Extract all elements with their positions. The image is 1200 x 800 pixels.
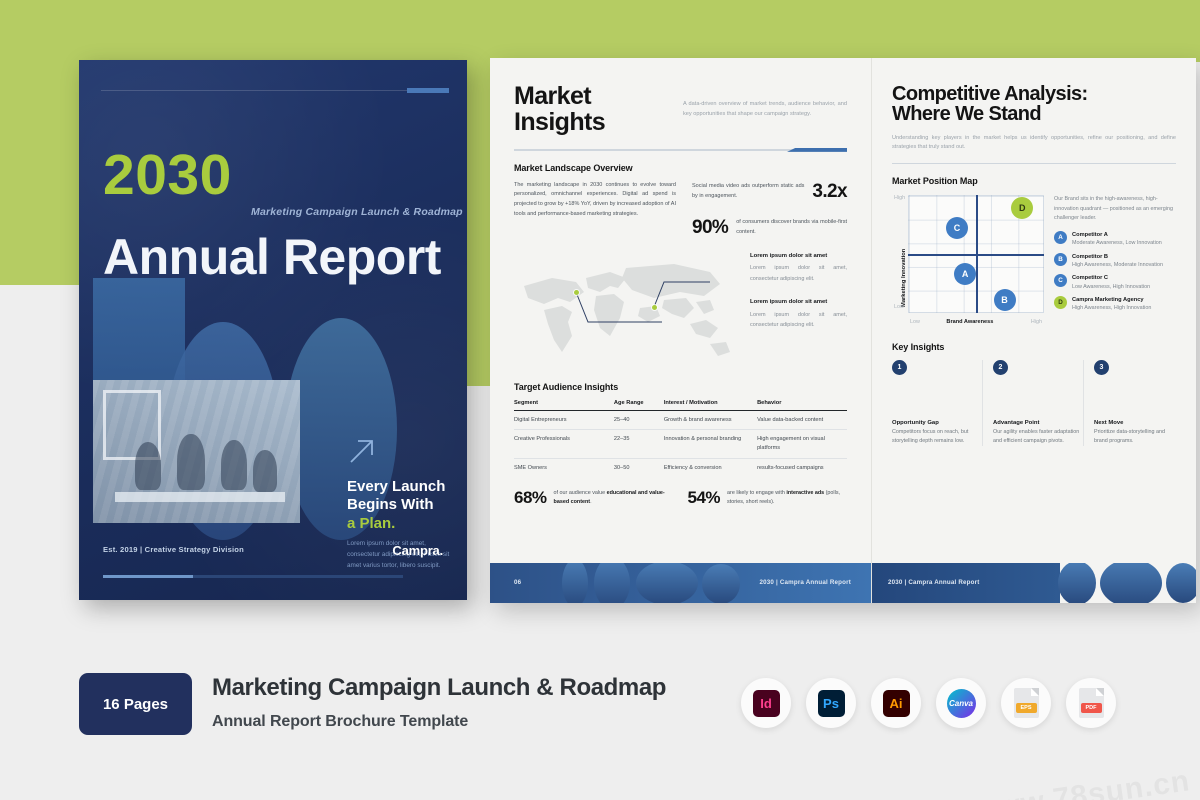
x-tick-high: High [1031,319,1042,325]
footer-page-number: 06 [514,579,521,586]
market-landscape-heading: Market Landscape Overview [514,163,847,173]
market-insights-title-line1: Market [514,84,669,110]
chart-point-d[interactable]: D [1011,197,1033,219]
cell-interest: Efficiency & conversion [664,458,757,477]
bottom-stat-68: 68% of our audience value educational an… [514,488,674,508]
pdf-label: PDF [1081,703,1102,713]
chart-note: Our Brand sits in the high-awareness, hi… [1054,195,1176,223]
callout-body: Lorem ipsum dolor sit amet, consectetur … [750,310,847,330]
map-callout: Lorem ipsum dolor sit amet Lorem ipsum d… [750,298,847,330]
spread-page-left[interactable]: Market Insights A data-driven overview o… [490,58,872,603]
illustrator-glyph: Ai [883,690,910,717]
canva-icon[interactable]: Canva [936,678,986,728]
cta-line-1: Every Launch [347,478,445,496]
pdf-page-shape: PDF [1079,688,1104,718]
y-tick-low: Low [894,304,904,310]
callout-title: Lorem ipsum dolor sit amet [750,298,847,307]
cell-segment: SME Owners [514,458,614,477]
legend-marker: A [1054,231,1067,244]
cell-age: 22–35 [614,430,664,458]
chart-xlabel: Brand Awareness [946,319,993,325]
insight-title: Opportunity Gap [892,420,982,426]
stat-text: of consumers discover brands via mobile-… [736,218,847,237]
page-footer-right: 2030 | Campra Annual Report [872,563,1196,603]
section-divider [514,149,847,151]
product-subtitle: Annual Report Brochure Template [212,713,468,731]
insight-number: 2 [993,360,1008,375]
th-age: Age Range [614,400,664,411]
stat-text-post: . [590,499,592,505]
callout-body: Lorem ipsum dolor sit amet, consectetur … [750,263,847,283]
cell-behavior: Value data-backed content [757,410,847,430]
photoshop-icon[interactable]: Ps [806,678,856,728]
cover-cta: Every Launch Begins With a Plan. [347,478,445,533]
insight-body: Competitors focus on reach, but storytel… [892,428,982,447]
th-interest: Interest / Motivation [664,400,757,411]
th-behavior: Behavior [757,400,847,411]
bottom-stat-54: 54% are likely to engage with interactiv… [688,488,848,508]
footer-label: 2030 | Campra Annual Report [888,579,980,586]
stat-block-90pct: 90% of consumers discover brands via mob… [692,217,847,239]
legend-item-a: A Competitor A Moderate Awareness, Low I… [1054,231,1176,248]
legend-name: Competitor C [1072,274,1150,283]
world-map-svg [514,252,742,368]
insight-body: Our agility enables faster adaptation an… [993,428,1083,447]
competitive-title-line1: Competitive Analysis: [892,84,1176,104]
eps-label: EPS [1016,703,1037,713]
watermark: www.78sun.cn [970,764,1192,800]
world-map [514,252,742,368]
legend-marker: D [1054,296,1067,309]
map-callout: Lorem ipsum dolor sit amet Lorem ipsum d… [750,252,847,284]
chart-point-b[interactable]: B [994,289,1016,311]
y-tick-high: High [894,195,905,201]
target-audience-table: Segment Age Range Interest / Motivation … [514,400,847,478]
cover-footer-text: Est. 2019 | Creative Strategy Division [103,545,244,554]
chart-point-c[interactable]: C [946,217,968,239]
cover-title: Annual Report [103,232,441,282]
callout-title: Lorem ipsum dolor sit amet [750,252,847,261]
table-row: Creative Professionals 22–35 Innovation … [514,430,847,458]
insight-title: Next Move [1094,420,1176,426]
brochure-spread[interactable]: Market Insights A data-driven overview o… [490,58,1196,603]
footer-ellipse [702,564,740,603]
cta-line-3: a Plan. [347,515,445,533]
bottom-stat-value: 68% [514,488,547,508]
x-tick-low: Low [910,319,920,325]
table-header-row: Segment Age Range Interest / Motivation … [514,400,847,411]
indesign-glyph: Id [753,690,780,717]
cell-segment: Digital Entrepreneurs [514,410,614,430]
legend-item-d: D Campra Marketing Agency High Awareness… [1054,296,1176,313]
stat-text: Social media video ads outperform static… [692,182,804,201]
cover-photo [93,380,300,523]
legend-marker: B [1054,253,1067,266]
stat-text-pre: are likely to engage with [727,490,786,496]
illustrator-icon[interactable]: Ai [871,678,921,728]
insight-card-1: 1 Opportunity Gap Competitors focus on r… [892,360,983,446]
market-insights-intro: A data-driven overview of market trends,… [683,84,847,119]
chart-point-a[interactable]: A [954,263,976,285]
product-title: Marketing Campaign Launch & Roadmap [212,674,666,702]
table-row: Digital Entrepreneurs 25–40 Growth & bra… [514,410,847,430]
footer-ellipse [1100,563,1162,603]
quadrant-plot-area: A B C D [908,195,1044,313]
photo-person [253,450,277,492]
legend-name: Competitor A [1072,231,1162,240]
market-position-chart: Marketing Innovation High Low A B C D [892,195,1044,326]
cover-year: 2030 [103,148,232,202]
insight-title: Advantage Point [993,420,1083,426]
bottom-stat-value: 54% [688,488,721,508]
cover-brand-logo: Campra. [392,543,443,558]
table-row: SME Owners 30–50 Efficiency & conversion… [514,458,847,477]
footer-ellipse [1166,563,1196,603]
stat-value: 90% [692,217,728,239]
insight-card-3: 3 Next Move Prioritize data-storytelling… [1094,360,1176,446]
footer-ellipse [562,563,588,603]
legend-desc: High Awareness, Moderate Innovation [1072,261,1163,269]
arrow-up-right-icon [347,436,377,466]
target-audience-heading: Target Audience Insights [514,382,847,392]
market-position-map-heading: Market Position Map [892,176,1176,186]
spread-page-right[interactable]: Competitive Analysis: Where We Stand Und… [872,58,1196,603]
bottom-stat-text: of our audience value educational and va… [554,489,674,508]
stat-text-pre: of our audience value [554,490,607,496]
insight-number: 3 [1094,360,1109,375]
eps-page-shape: EPS [1014,688,1039,718]
photo-person [135,442,161,490]
photo-person [221,440,247,490]
competitive-intro: Understanding key players in the market … [892,134,1176,153]
photoshop-glyph: Ps [818,690,845,717]
cell-interest: Innovation & personal branding [664,430,757,458]
stat-value: 3.2x [812,181,847,203]
canva-glyph: Canva [947,689,976,718]
footer-ellipse [1058,563,1096,603]
insight-card-2: 2 Advantage Point Our agility enables fa… [993,360,1084,446]
map-marker [574,290,579,295]
screenshot-root: 2030 Marketing Campaign Launch & Roadmap… [0,0,1200,800]
legend-desc: Moderate Awareness, Low Innovation [1072,239,1162,247]
brochure-cover[interactable]: 2030 Marketing Campaign Launch & Roadmap… [79,60,467,600]
cover-top-accent [407,88,449,93]
key-insights-heading: Key Insights [892,342,1176,352]
legend-marker: C [1054,274,1067,287]
section-divider [892,163,1176,165]
cover-bottom-rule [103,575,403,578]
chart-legend: Our Brand sits in the high-awareness, hi… [1054,195,1176,326]
legend-name: Competitor B [1072,253,1163,262]
map-marker [652,305,657,310]
insight-body: Prioritize data-storytelling and brand p… [1094,428,1176,447]
th-segment: Segment [514,400,614,411]
legend-desc: High Awareness, High Innovation [1072,304,1151,312]
competitive-title-line2: Where We Stand [892,104,1176,124]
stat-block-3-2x: Social media video ads outperform static… [692,181,847,203]
photo-table [115,492,285,502]
footer-ellipse [594,563,630,603]
pdf-file-icon[interactable]: PDF [1066,678,1116,728]
legend-name: Campra Marketing Agency [1072,296,1151,305]
eps-file-icon[interactable]: EPS [1001,678,1051,728]
cell-behavior: results-focused campaigns [757,458,847,477]
divider-accent [787,148,847,152]
chart-axis-horizontal [908,254,1044,256]
legend-desc: Low Awareness, High Innovation [1072,283,1150,291]
cell-age: 25–40 [614,410,664,430]
photo-person [177,434,205,490]
bottom-stat-text: are likely to engage with interactive ad… [727,489,847,508]
cta-line-2: Begins With [347,496,445,514]
indesign-icon[interactable]: Id [741,678,791,728]
market-insights-title-line2: Insights [514,110,669,136]
file-format-icons: Id Ps Ai Canva EPS PDF [741,678,1116,728]
cell-behavior: High engagement on visual platforms [757,430,847,458]
pages-count-badge: 16 Pages [79,673,192,735]
market-landscape-body: The marketing landscape in 2030 continue… [514,181,676,239]
footer-label: 2030 | Campra Annual Report [760,579,852,586]
legend-item-c: C Competitor C Low Awareness, High Innov… [1054,274,1176,291]
stat-text-bold: interactive ads [786,490,824,496]
footer-ellipse [636,563,698,603]
cell-age: 30–50 [614,458,664,477]
legend-item-b: B Competitor B High Awareness, Moderate … [1054,253,1176,270]
cover-top-rule [101,90,441,91]
cell-segment: Creative Professionals [514,430,614,458]
cell-interest: Growth & brand awareness [664,410,757,430]
insight-number: 1 [892,360,907,375]
cover-kicker: Marketing Campaign Launch & Roadmap [251,206,463,218]
page-footer-left: 06 2030 | Campra Annual Report [490,563,871,603]
chart-ylabel: Marketing Innovation [901,249,907,307]
